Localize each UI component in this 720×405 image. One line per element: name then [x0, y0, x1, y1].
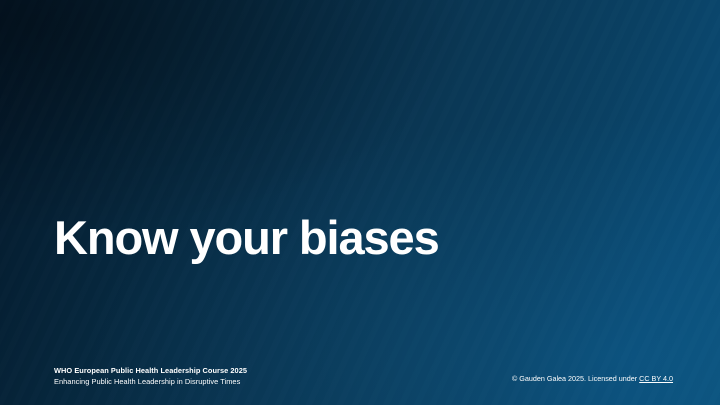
presentation-slide: Know your biases WHO European Public Hea…	[0, 0, 720, 405]
footer-course-subtitle: Enhancing Public Health Leadership in Di…	[54, 377, 247, 388]
license-link[interactable]: CC BY 4.0	[639, 374, 673, 383]
footer-copyright: © Gauden Galea 2025. Licensed under CC B…	[512, 374, 673, 384]
slide-title: Know your biases	[54, 208, 439, 268]
footer-course-info: WHO European Public Health Leadership Co…	[54, 366, 247, 387]
copyright-text: © Gauden Galea 2025. Licensed under	[512, 374, 639, 383]
footer-course-name: WHO European Public Health Leadership Co…	[54, 366, 247, 377]
